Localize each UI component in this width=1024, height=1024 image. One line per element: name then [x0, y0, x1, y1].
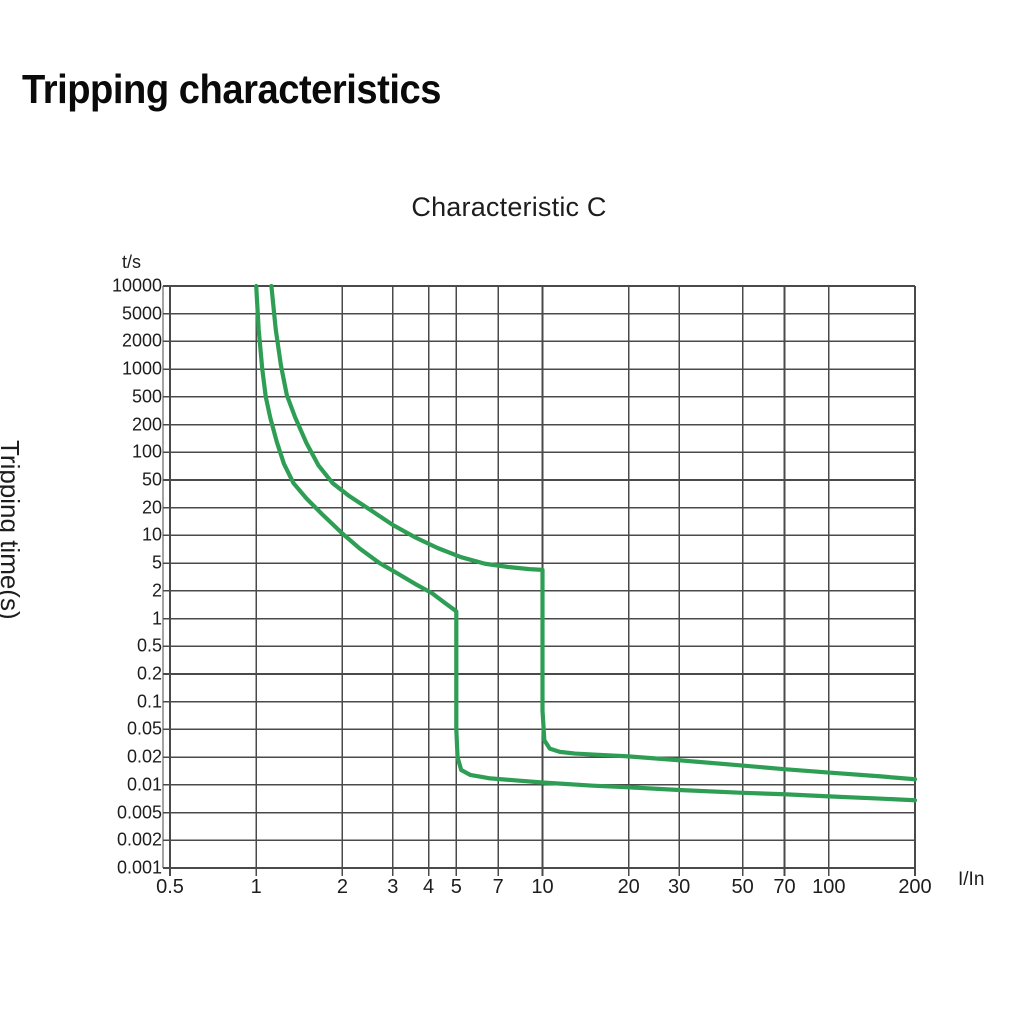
series-curve — [256, 286, 915, 800]
series-curve — [271, 286, 915, 779]
plot-area — [0, 0, 1024, 1024]
grid-lines — [163, 286, 915, 876]
series-group — [256, 286, 915, 800]
chart-canvas — [0, 0, 1024, 1024]
